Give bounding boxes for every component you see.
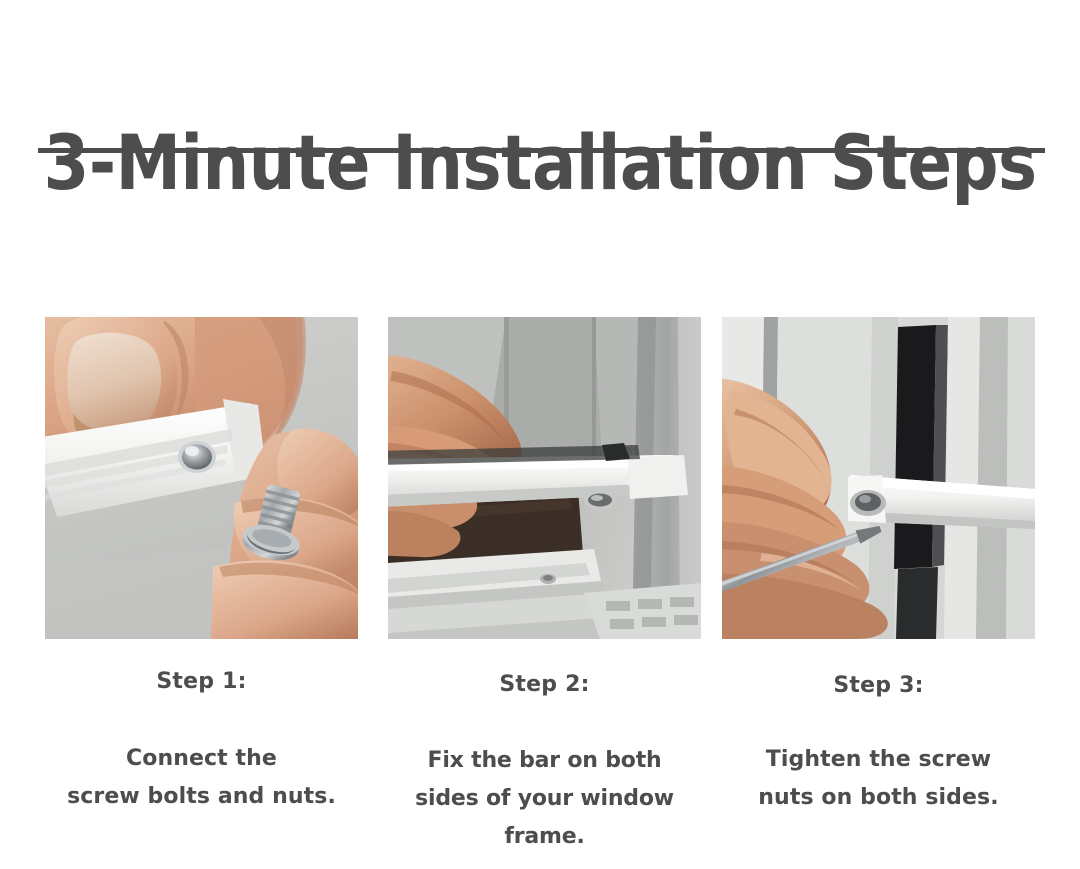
photo-step-2-illustration	[388, 317, 701, 639]
step-3-text: Tighten the screw nuts on both sides.	[722, 741, 1035, 817]
step-2-label: Step 2:	[388, 671, 701, 699]
photo-step-3-illustration	[722, 317, 1035, 639]
installation-photo-row	[0, 317, 1080, 639]
photo-step-3	[722, 317, 1035, 639]
photo-step-2	[388, 317, 701, 639]
title-underline-rule	[38, 148, 1045, 153]
step-1-label: Step 1:	[45, 668, 358, 696]
page-title: 3-Minute Installation Steps	[44, 121, 1037, 205]
step-3-label: Step 3:	[722, 672, 1035, 700]
step-1-text: Connect the screw bolts and nuts.	[45, 740, 358, 816]
step-2-text: Fix the bar on both sides of your window…	[388, 742, 701, 856]
caption-step-3: Step 3: Tighten the screw nuts on both s…	[722, 668, 1035, 816]
caption-step-2: Step 2: Fix the bar on both sides of you…	[388, 668, 701, 854]
photo-step-1-illustration	[45, 317, 358, 639]
caption-step-1: Step 1: Connect the screw bolts and nuts…	[45, 668, 358, 816]
title-block: 3-Minute Installation Steps	[0, 70, 1080, 256]
photo-step-1	[45, 317, 358, 639]
